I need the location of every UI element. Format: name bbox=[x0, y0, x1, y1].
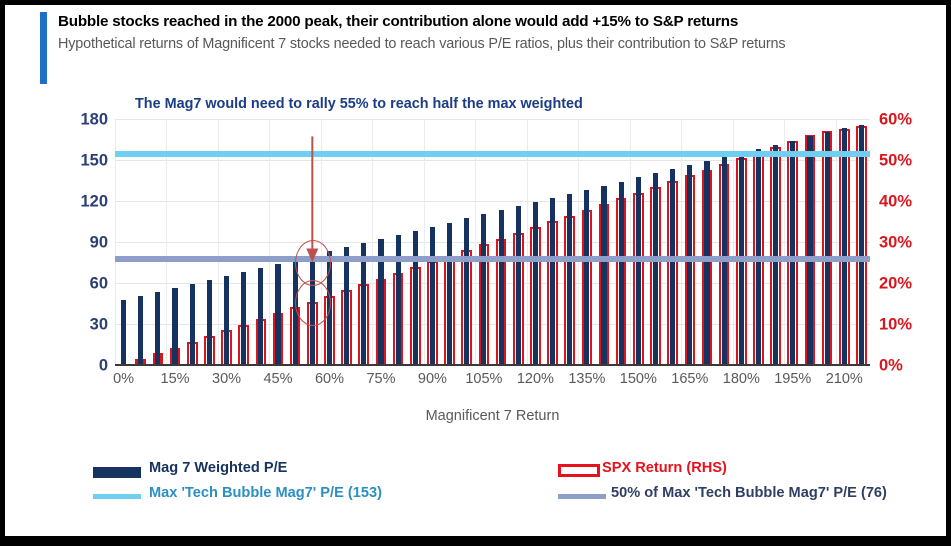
plot-area bbox=[115, 120, 870, 366]
legend-label-mag7: Mag 7 Weighted P/E bbox=[149, 460, 287, 476]
legend-swatch-max-pe bbox=[93, 494, 141, 499]
x-axis-title: Magnificent 7 Return bbox=[115, 408, 870, 424]
x-axis-tick: 60% bbox=[315, 371, 344, 387]
chart-card: Bubble stocks reached in the 2000 peak, … bbox=[5, 5, 946, 536]
x-axis-tick: 180% bbox=[723, 371, 760, 387]
y-axis-right-tick: 30% bbox=[879, 234, 912, 253]
legend-swatch-mag7 bbox=[93, 467, 141, 478]
annotation-text-1a: The Mag7 would need to rally bbox=[135, 96, 340, 112]
x-axis-tick: 135% bbox=[568, 371, 605, 387]
legend-swatch-spx bbox=[558, 464, 600, 477]
chart-area: The Mag7 would need to rally 55% to reac… bbox=[5, 93, 946, 453]
legend-label-half-max-pe: 50% of Max 'Tech Bubble Mag7' P/E (76) bbox=[611, 485, 887, 501]
y-axis-left-labels: 0306090120150180 bbox=[60, 120, 108, 366]
y-axis-right-tick: 20% bbox=[879, 275, 912, 294]
annotation-circle bbox=[295, 280, 331, 326]
x-axis-tick: 30% bbox=[212, 371, 241, 387]
legend-swatch-half-max-pe bbox=[558, 494, 606, 499]
y-axis-left-tick: 30 bbox=[90, 316, 108, 335]
y-axis-left-tick: 90 bbox=[90, 234, 108, 253]
annotation-arrow-icon bbox=[115, 120, 870, 366]
x-axis-tick: 165% bbox=[671, 371, 708, 387]
y-axis-right-labels: 0%10%20%30%40%50%60% bbox=[879, 120, 945, 366]
y-axis-left-tick: 60 bbox=[90, 275, 108, 294]
y-axis-right-tick: 10% bbox=[879, 316, 912, 335]
y-axis-right-tick: 60% bbox=[879, 111, 912, 130]
header: Bubble stocks reached in the 2000 peak, … bbox=[40, 8, 935, 90]
x-axis-tick: 105% bbox=[465, 371, 502, 387]
x-axis-tick: 195% bbox=[774, 371, 811, 387]
annotation-line-1: The Mag7 would need to rally 55% to reac… bbox=[135, 93, 695, 116]
y-axis-right-tick: 40% bbox=[879, 193, 912, 212]
y-axis-left-tick: 0 bbox=[99, 357, 108, 376]
x-axis-tick: 15% bbox=[161, 371, 190, 387]
x-axis-tick: 210% bbox=[826, 371, 863, 387]
y-axis-left-tick: 120 bbox=[80, 193, 108, 212]
legend-label-max-pe: Max 'Tech Bubble Mag7' P/E (153) bbox=[149, 485, 382, 501]
x-axis-tick: 45% bbox=[263, 371, 292, 387]
x-axis-line bbox=[115, 364, 870, 366]
y-axis-right-tick: 0% bbox=[879, 357, 903, 376]
x-axis-tick: 120% bbox=[517, 371, 554, 387]
y-axis-left-tick: 150 bbox=[80, 152, 108, 171]
legend-label-spx: SPX Return (RHS) bbox=[602, 460, 727, 476]
annotation-pct-55: 55% bbox=[340, 96, 369, 112]
page-title: Bubble stocks reached in the 2000 peak, … bbox=[58, 12, 933, 31]
annotation-text-1c: to reach half the max weighted bbox=[369, 96, 583, 112]
y-axis-right-tick: 50% bbox=[879, 152, 912, 171]
page-subtitle: Hypothetical returns of Magnificent 7 st… bbox=[58, 34, 930, 55]
x-axis-labels: 0%15%30%45%60%75%90%105%120%135%150%165%… bbox=[115, 371, 870, 395]
y-axis-left-tick: 180 bbox=[80, 111, 108, 130]
x-axis-tick: 90% bbox=[418, 371, 447, 387]
chart-legend: Mag 7 Weighted P/E SPX Return (RHS) Max … bbox=[5, 457, 946, 519]
x-axis-tick: 0% bbox=[113, 371, 134, 387]
accent-bar bbox=[40, 12, 47, 84]
x-axis-tick: 75% bbox=[366, 371, 395, 387]
x-axis-tick: 150% bbox=[620, 371, 657, 387]
